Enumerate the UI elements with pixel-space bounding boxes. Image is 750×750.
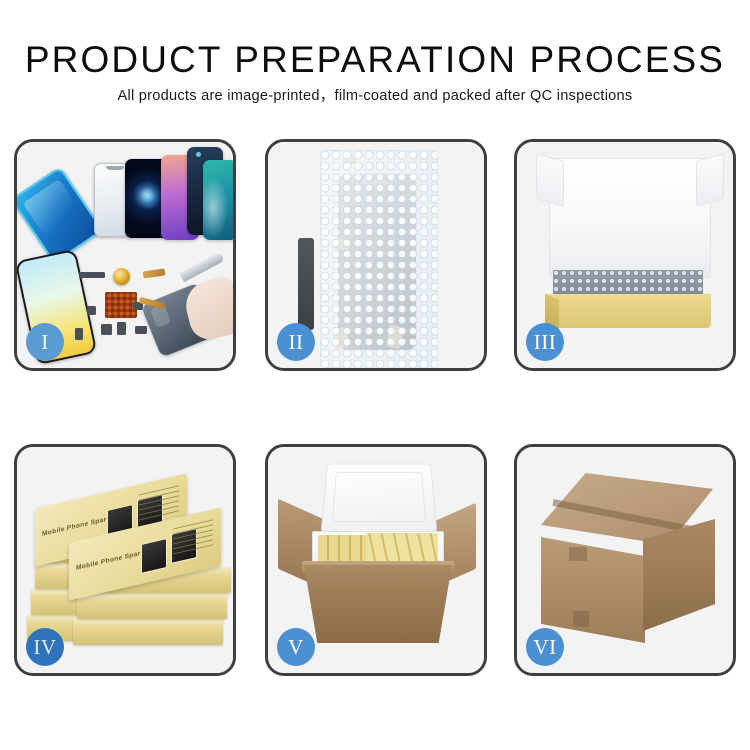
stacked-box-right-4: [77, 593, 227, 619]
blue-adhesive-film: [14, 166, 104, 264]
page-subtitle: All products are image-printed，film-coat…: [0, 89, 750, 104]
step-badge-3: III: [526, 323, 564, 361]
part-flex-cable: [298, 238, 314, 330]
kraft-box-front-panel: [545, 294, 711, 328]
small-part-strip: [79, 272, 105, 278]
process-step-panel-4[interactable]: Mobile Phone Spare Parts Mobile Phone Sp…: [14, 444, 236, 676]
process-step-panel-1[interactable]: I: [14, 139, 236, 371]
step-badge-4: IV: [26, 628, 64, 666]
box-window-second-a: [141, 538, 167, 574]
page-title: PRODUCT PREPARATION PROCESS: [0, 41, 750, 78]
small-part-b: [101, 324, 112, 335]
white-box-lid: [549, 158, 711, 278]
kraft-box-stack: Mobile Phone Spare Parts Mobile Phone Sp…: [27, 469, 227, 659]
step-badge-2: II: [277, 323, 315, 361]
small-part-f: [135, 326, 147, 334]
page-header: PRODUCT PREPARATION PROCESS All products…: [0, 0, 750, 130]
bubble-wrap-bag: [320, 150, 438, 368]
carton-tab-upper: [569, 547, 587, 561]
box-spec-lines-second: [173, 519, 213, 558]
step-badge-5: V: [277, 628, 315, 666]
flex-cable-a: [143, 269, 166, 279]
small-part-e: [75, 328, 83, 340]
carton-tab-lower: [573, 611, 589, 627]
teal-phone: [203, 160, 236, 240]
process-step-panel-5[interactable]: V: [265, 444, 487, 676]
stacked-box-right-5: [73, 619, 223, 645]
step-badge-6: VI: [526, 628, 564, 666]
process-step-panel-6[interactable]: VI: [514, 444, 736, 676]
gold-coil-part: [113, 268, 130, 285]
step-badge-1: I: [26, 323, 64, 361]
carton-body: [304, 565, 452, 643]
foam-lid: [321, 464, 438, 533]
process-step-grid: I II III: [14, 139, 736, 680]
carton-front-face: [541, 537, 645, 643]
process-step-panel-2[interactable]: II: [265, 139, 487, 371]
process-step-panel-3[interactable]: III: [514, 139, 736, 371]
small-part-c: [117, 322, 126, 335]
small-part-a: [87, 306, 96, 315]
